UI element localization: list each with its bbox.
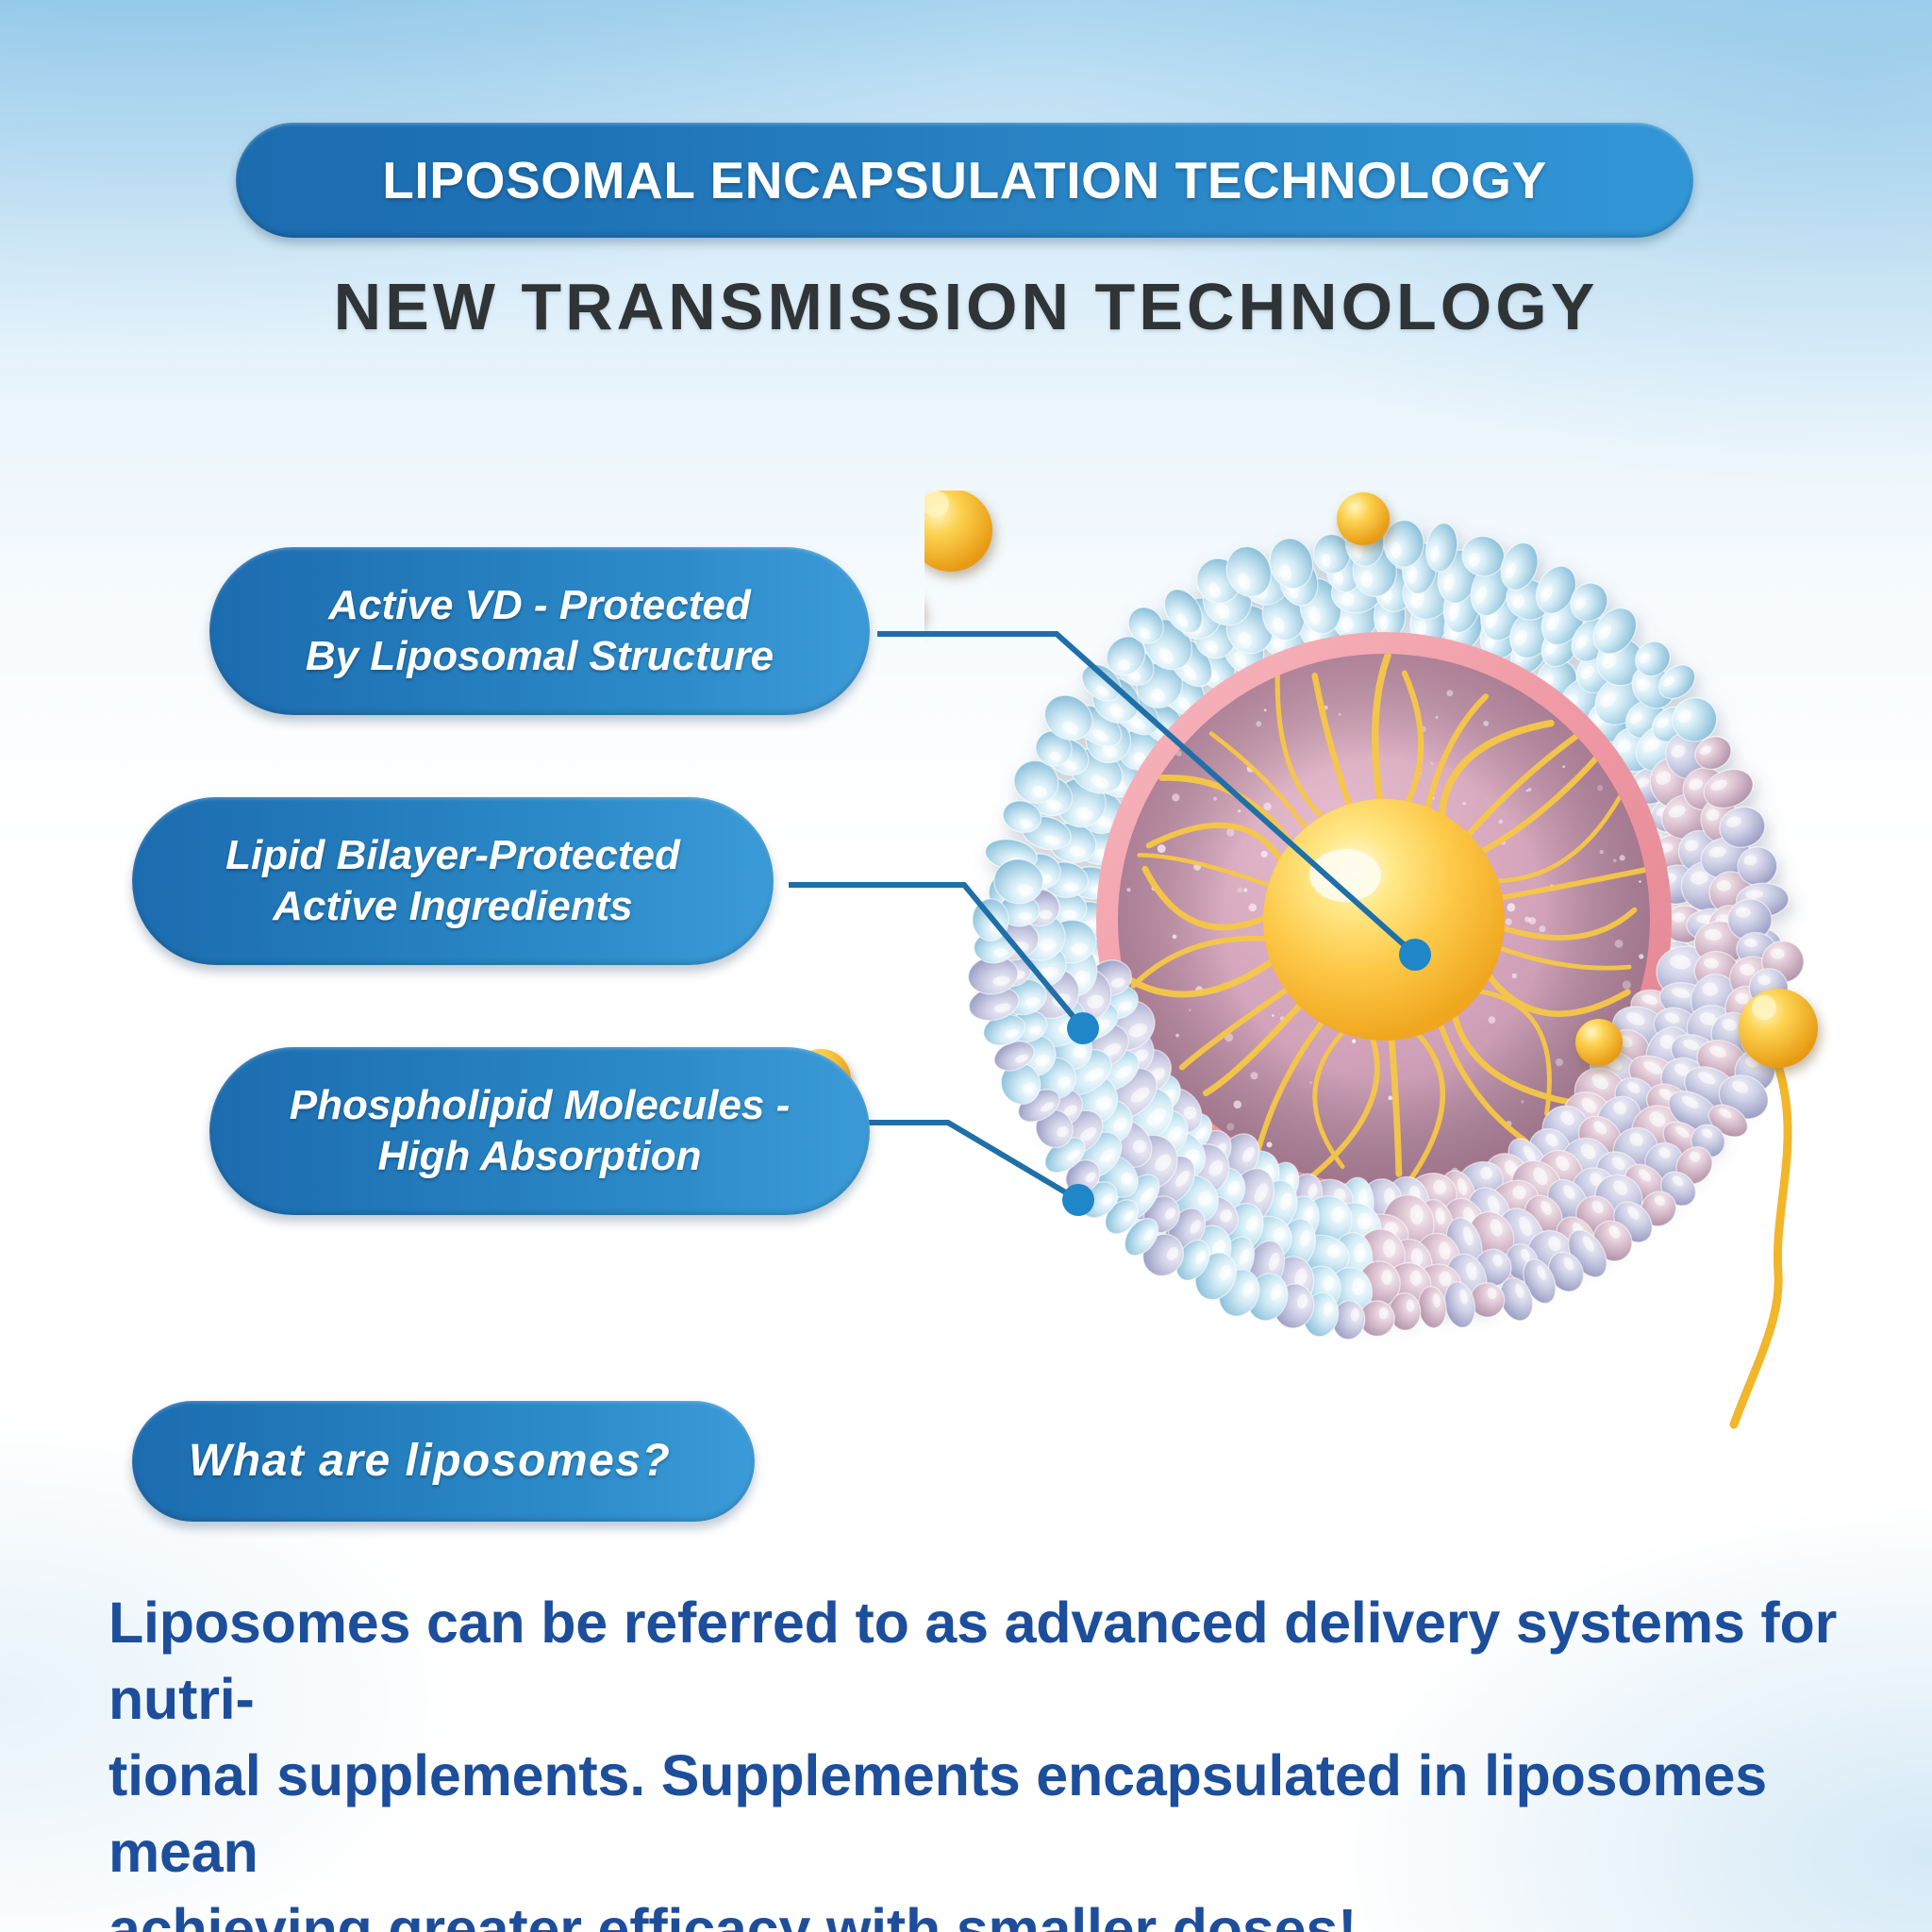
infographic-page: LIPOSOMAL ENCAPSULATION TECHNOLOGY NEW T…: [0, 0, 1932, 1932]
body-paragraph-line2: tional supplements. Supplements encapsul…: [108, 1738, 1844, 1890]
callout-phospholipid-line1: Phospholipid Molecules -: [290, 1080, 790, 1131]
liposome-illustration: [924, 491, 1849, 1557]
callout-active-vd-line2: By Liposomal Structure: [306, 631, 774, 682]
question-pill-text: What are liposomes?: [189, 1434, 671, 1490]
title-banner-text: LIPOSOMAL ENCAPSULATION TECHNOLOGY: [382, 150, 1547, 210]
body-paragraph-line3: achieving greater efficacy with smaller …: [108, 1891, 1844, 1932]
callout-phospholipid[interactable]: Phospholipid Molecules - High Absorption: [209, 1047, 870, 1215]
liposome-core: [1263, 799, 1505, 1041]
page-subtitle: NEW TRANSMISSION TECHNOLOGY: [0, 269, 1932, 344]
title-banner: LIPOSOMAL ENCAPSULATION TECHNOLOGY: [236, 123, 1693, 238]
callout-lipid-bilayer-line2: Active Ingredients: [273, 881, 632, 932]
callout-lipid-bilayer[interactable]: Lipid Bilayer-Protected Active Ingredien…: [132, 797, 774, 965]
body-paragraph: Liposomes can be referred to as advanced…: [108, 1585, 1844, 1932]
callout-active-vd-line1: Active VD - Protected: [328, 580, 750, 631]
callout-lipid-bilayer-line1: Lipid Bilayer-Protected: [225, 830, 680, 881]
question-pill[interactable]: What are liposomes?: [132, 1401, 755, 1522]
callout-active-vd[interactable]: Active VD - Protected By Liposomal Struc…: [209, 547, 870, 715]
body-paragraph-line1: Liposomes can be referred to as advanced…: [108, 1585, 1844, 1738]
callout-phospholipid-line2: High Absorption: [378, 1131, 702, 1182]
